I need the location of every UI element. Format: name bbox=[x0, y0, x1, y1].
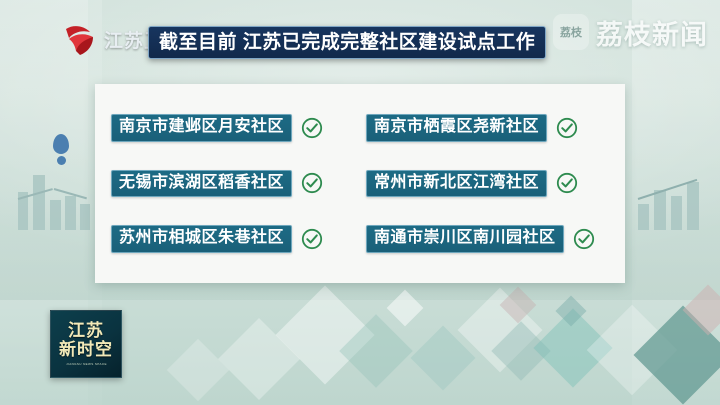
check-circle-icon bbox=[301, 228, 323, 250]
community-list-grid: 南京市建邺区月安社区 南京市栖霞区尧新社区 bbox=[95, 84, 625, 283]
list-item: 无锡市滨湖区稻香社区 bbox=[111, 156, 356, 212]
check-circle-icon bbox=[301, 117, 323, 139]
community-name-4: 苏州市相城区朱巷社区 bbox=[111, 225, 292, 252]
news-watermark: 荔枝 荔枝新闻 bbox=[553, 10, 708, 54]
check-circle-icon bbox=[301, 172, 323, 194]
list-item: 常州市新北区江湾社区 bbox=[366, 156, 611, 212]
program-logo-line2: 新时空 bbox=[59, 341, 113, 359]
lizhi-app-icon: 荔枝 bbox=[553, 14, 589, 50]
community-name-3: 常州市新北区江湾社区 bbox=[366, 170, 547, 197]
right-decorative-chart bbox=[636, 170, 702, 230]
community-name-5: 南通市崇川区南川园社区 bbox=[366, 225, 564, 252]
map-pin-icon bbox=[53, 134, 69, 154]
check-circle-icon bbox=[556, 117, 578, 139]
check-circle-icon bbox=[573, 228, 595, 250]
headline-banner: 截至目前 江苏已完成完整社区建设试点工作 bbox=[148, 26, 546, 59]
list-item: 南京市建邺区月安社区 bbox=[111, 100, 356, 156]
headline-text: 截至目前 江苏已完成完整社区建设试点工作 bbox=[159, 33, 535, 52]
community-name-1: 南京市栖霞区尧新社区 bbox=[366, 114, 547, 141]
list-item: 苏州市相城区朱巷社区 bbox=[111, 211, 356, 267]
list-item: 南通市崇川区南川园社区 bbox=[366, 211, 611, 267]
list-item: 南京市栖霞区尧新社区 bbox=[366, 100, 611, 156]
check-circle-icon bbox=[556, 172, 578, 194]
news-watermark-label: 荔枝新闻 bbox=[596, 13, 708, 52]
jiangsu-tv-swoosh-icon bbox=[60, 20, 100, 58]
broadcast-screen: 江苏卫视 截至目前 江苏已完成完整社区建设试点工作 荔枝 荔枝新闻 南京市建邺区… bbox=[0, 0, 720, 405]
program-logo-line1: 江苏 bbox=[68, 322, 104, 339]
community-name-2: 无锡市滨湖区稻香社区 bbox=[111, 170, 292, 197]
left-decorative-chart bbox=[16, 170, 94, 230]
program-logo: 江苏 新时空 JIANGSU NEWS SPACE bbox=[50, 310, 122, 378]
lizhi-app-icon-label: 荔枝 bbox=[560, 24, 582, 40]
program-logo-subtitle: JIANGSU NEWS SPACE bbox=[66, 362, 107, 366]
community-name-0: 南京市建邺区月安社区 bbox=[111, 114, 292, 141]
community-list-panel: 南京市建邺区月安社区 南京市栖霞区尧新社区 bbox=[95, 84, 625, 283]
